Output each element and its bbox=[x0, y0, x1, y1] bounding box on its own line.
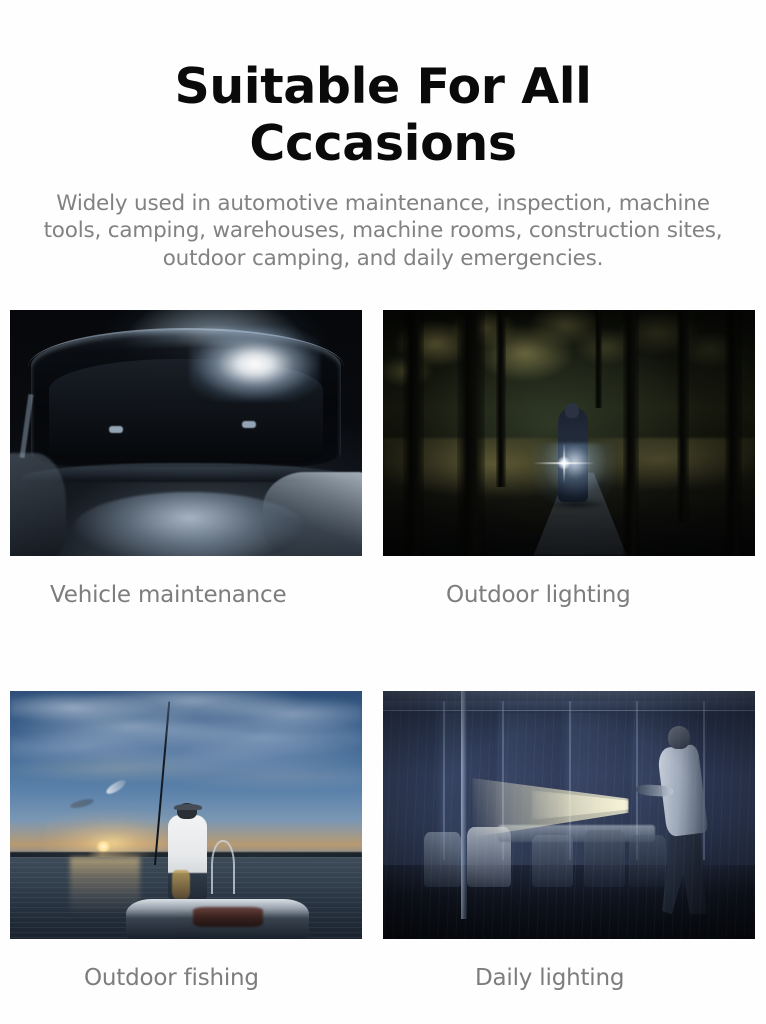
photo-outdoor-lighting bbox=[383, 310, 755, 556]
boat-console bbox=[193, 907, 263, 927]
photo-outdoor-fishing bbox=[10, 691, 362, 939]
gallery-row-2: Outdoor fishing bbox=[0, 691, 766, 990]
caption-outdoor-lighting: Outdoor lighting bbox=[383, 556, 755, 607]
photo-vignette bbox=[383, 691, 755, 939]
right-fender bbox=[263, 472, 362, 556]
gallery-item-outdoor-fishing[interactable]: Outdoor fishing bbox=[10, 691, 362, 990]
page-subtitle: Widely used in automotive maintenance, i… bbox=[33, 190, 733, 273]
page-title: Suitable For All Cccasions bbox=[148, 58, 618, 173]
angler-cap bbox=[174, 804, 202, 810]
hood-clip-right bbox=[242, 421, 256, 428]
left-fender bbox=[10, 453, 66, 556]
promo-page: Suitable For All Cccasions Widely used i… bbox=[0, 0, 766, 1024]
caption-vehicle-maintenance: Vehicle maintenance bbox=[10, 556, 362, 607]
page-title-line-2: Cccasions bbox=[249, 115, 516, 172]
photo-vehicle-maintenance bbox=[10, 310, 362, 556]
gallery-item-outdoor-lighting[interactable]: Outdoor lighting bbox=[383, 310, 755, 607]
tackle-box bbox=[172, 870, 190, 900]
photo-vignette bbox=[383, 310, 755, 556]
header-section: Suitable For All Cccasions Widely used i… bbox=[0, 0, 766, 273]
photo-daily-lighting bbox=[383, 691, 755, 939]
gallery-row-1: Vehicle maintenance bbox=[0, 310, 766, 607]
gallery-item-daily-lighting[interactable]: Daily lighting bbox=[383, 691, 755, 990]
boat-rail bbox=[211, 840, 236, 895]
work-light-flare bbox=[190, 327, 320, 401]
page-title-line-1: Suitable For All bbox=[174, 58, 591, 115]
gallery-grid: Vehicle maintenance bbox=[0, 310, 766, 990]
caption-outdoor-fishing: Outdoor fishing bbox=[10, 939, 362, 990]
caption-daily-lighting: Daily lighting bbox=[383, 939, 755, 990]
hood-clip-left bbox=[109, 426, 123, 433]
gallery-item-vehicle-maintenance[interactable]: Vehicle maintenance bbox=[10, 310, 362, 607]
